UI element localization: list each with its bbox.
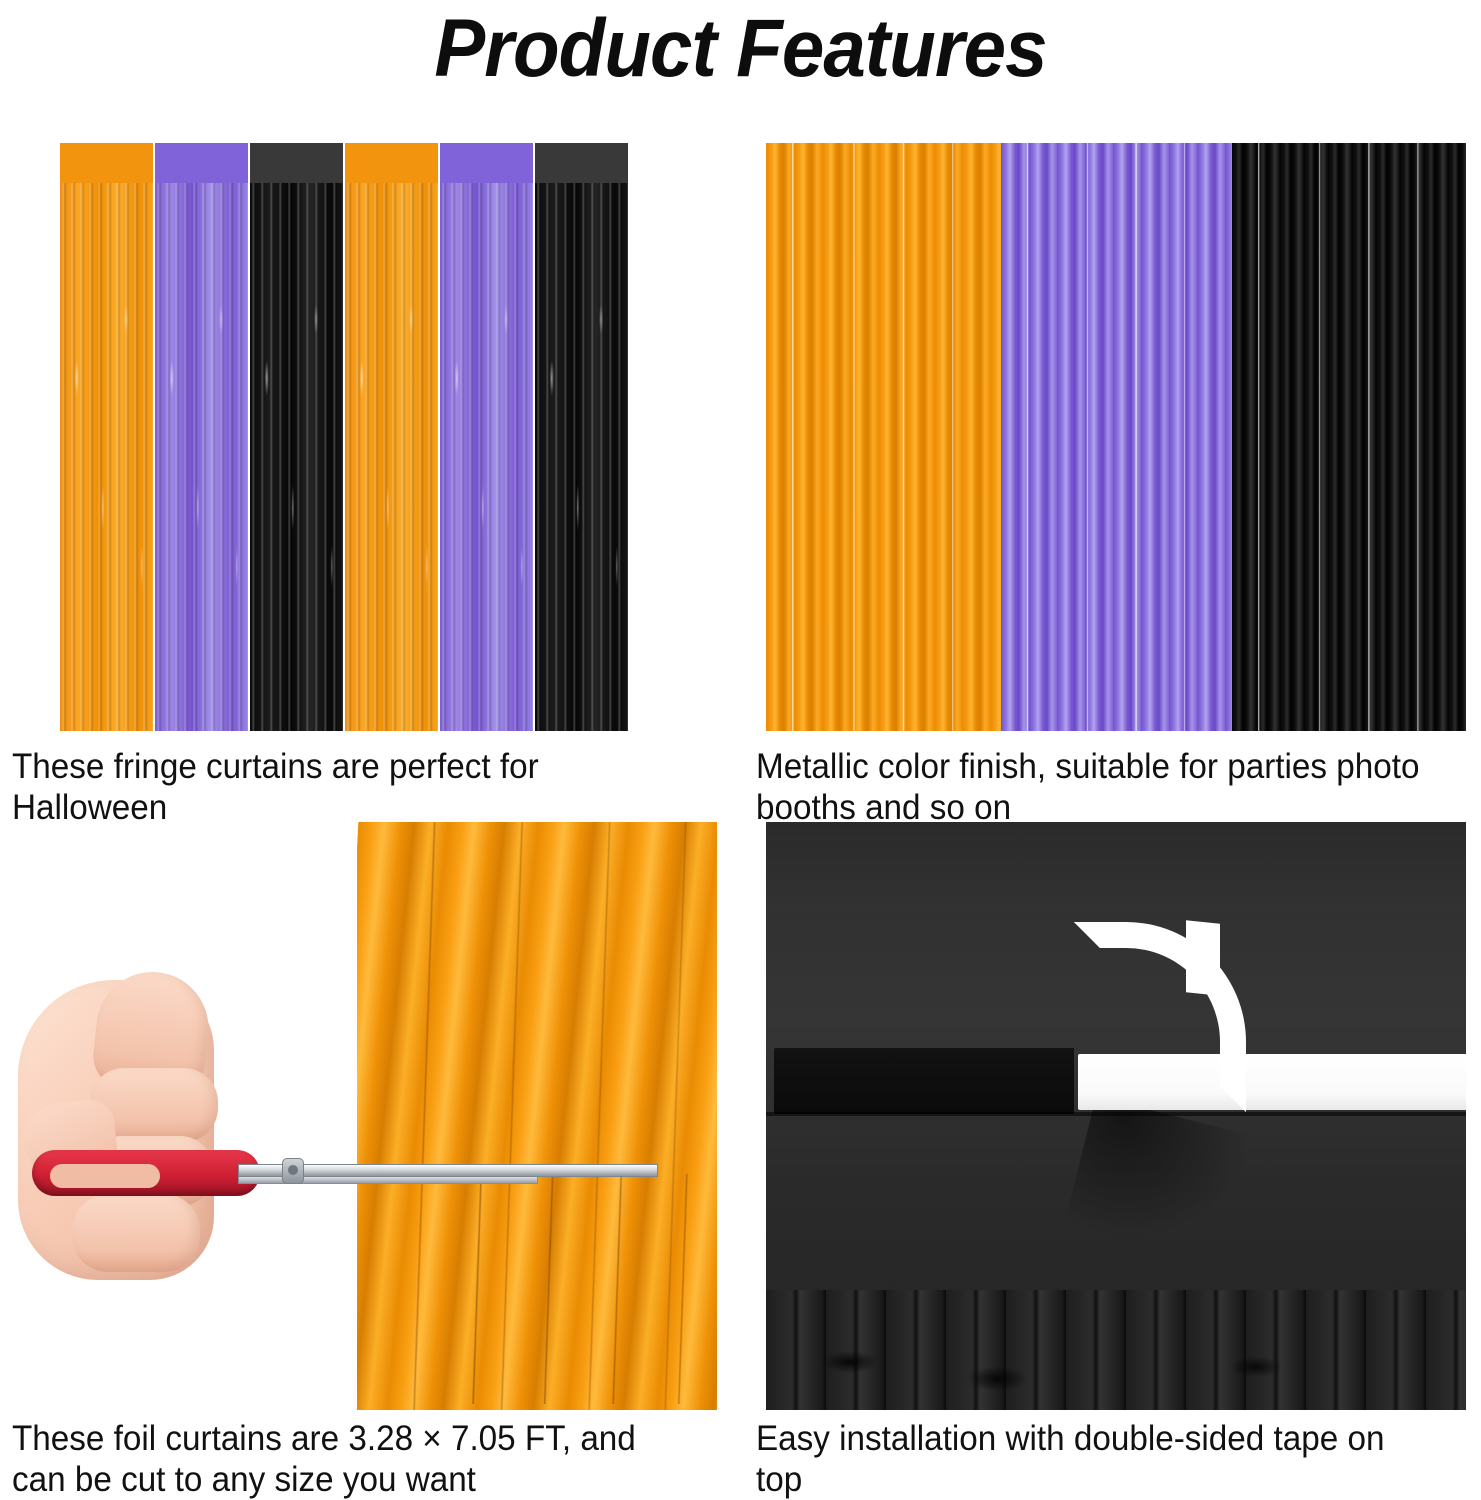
fringe-texture: [345, 143, 438, 731]
tape-backing-strip: [774, 1048, 1074, 1114]
foil-strand-texture: [1001, 143, 1232, 731]
feature-caption-double-sided-tape: Easy installation with double-sided tape…: [756, 1418, 1433, 1500]
tape-peeled-curl: [1074, 922, 1246, 1112]
cut-fringe-slits: [432, 1174, 722, 1404]
curtain-panel-black-2: [535, 143, 628, 731]
hand-holding-scissors: [18, 972, 318, 1292]
scissors-handle: [32, 1150, 260, 1196]
feature-cell-halloween-fringe-curtains: These fringe curtains are perfect for Ha…: [12, 140, 734, 820]
curtain-header-band: [155, 143, 248, 183]
scissors-screw: [288, 1165, 298, 1175]
fringe-texture: [60, 143, 153, 731]
curtain-panel-black-1: [250, 143, 343, 731]
curtain-panel-purple-2: [440, 143, 533, 731]
metallic-band-orange: [766, 143, 1001, 731]
curtain-panel-row: [60, 143, 628, 731]
curtain-top-band: [766, 822, 1466, 910]
feature-caption-metallic-finish: Metallic color finish, suitable for part…: [756, 746, 1419, 828]
fringe-curtains-six-panels-photo: [60, 143, 628, 731]
curtain-panel-orange-2: [345, 143, 438, 731]
curtain-header-band: [440, 143, 533, 183]
curtain-header-band: [345, 143, 438, 183]
black-fringe-strips: [766, 1290, 1466, 1410]
feature-caption-cut-to-size: These foil curtains are 3.28 × 7.05 FT, …: [12, 1418, 636, 1500]
metallic-fringe-closeup-photo: [766, 143, 1466, 731]
foil-strand-texture: [766, 143, 1001, 731]
metallic-band-row: [766, 143, 1466, 731]
metallic-band-black: [1232, 143, 1467, 731]
fringe-texture: [250, 143, 343, 731]
scissors-cutting-orange-curtain-photo: [12, 822, 734, 1410]
foil-strand-texture: [1232, 143, 1467, 731]
fringe-texture: [155, 143, 248, 731]
curtain-panel-orange-1: [60, 143, 153, 731]
fringe-texture: [440, 143, 533, 731]
feature-grid: These fringe curtains are perfect for Ha…: [0, 0, 1481, 1500]
curtain-panel-purple-1: [155, 143, 248, 731]
scissors-handle-hole: [50, 1164, 160, 1188]
curtain-header-band: [250, 143, 343, 183]
tape-shadow: [1065, 1097, 1252, 1262]
metallic-band-purple: [1001, 143, 1232, 731]
little-finger: [72, 1194, 200, 1272]
curtain-header-band: [535, 143, 628, 183]
double-sided-tape-on-black-curtain-photo: [766, 822, 1466, 1410]
feature-cell-double-sided-tape: Easy installation with double-sided tape…: [756, 822, 1469, 1492]
curtain-header-band: [60, 143, 153, 183]
feature-cell-metallic-finish: Metallic color finish, suitable for part…: [756, 140, 1469, 820]
fringe-texture: [535, 143, 628, 731]
feature-cell-cut-to-size: These foil curtains are 3.28 × 7.05 FT, …: [12, 822, 734, 1492]
tape-free-end: [1186, 920, 1220, 996]
scissors-icon: [32, 1144, 652, 1204]
